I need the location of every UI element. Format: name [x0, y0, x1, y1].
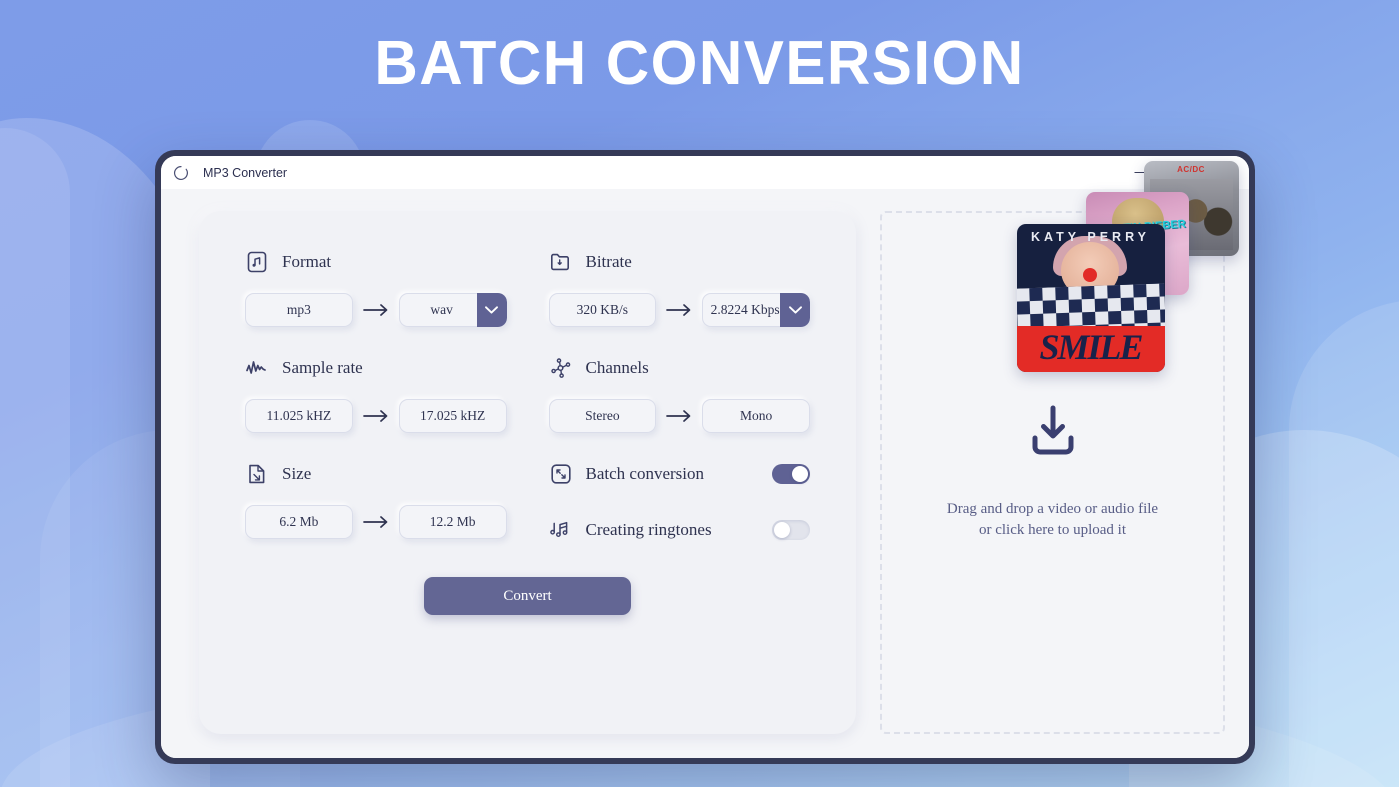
format-header: Format: [245, 247, 507, 277]
file-resize-icon: [245, 462, 269, 486]
size-to-field[interactable]: 12.2 Mb: [399, 505, 507, 539]
size-header: Size: [245, 459, 507, 489]
channels-node-icon: [549, 356, 573, 380]
music-notes-icon: [549, 518, 573, 542]
bitrate-to-select[interactable]: 2.8224 Kbps: [702, 293, 810, 327]
sample-rate-from-field[interactable]: 11.025 kHZ: [245, 399, 353, 433]
creating-ringtones-row: Creating ringtones: [549, 515, 811, 545]
batch-conversion-toggle[interactable]: [772, 464, 810, 484]
kp-cover-banner: [1017, 326, 1165, 372]
jb-cover-art: [1112, 198, 1164, 238]
toggles-column: Batch conversion: [549, 459, 811, 571]
app-title: MP3 Converter: [203, 166, 287, 180]
channels-to-field[interactable]: Mono: [702, 399, 810, 433]
kp-cover-artist: KATY PERRY: [1017, 230, 1165, 244]
kp-cover-nose: [1083, 268, 1097, 282]
maximize-icon: [1178, 167, 1189, 178]
kp-cover-checks: [1017, 283, 1165, 334]
arrow-right-icon: [362, 303, 390, 317]
page-headline: BATCH CONVERSION: [21, 28, 1378, 99]
size-row: 6.2 Mb 12.2 Mb: [245, 505, 507, 539]
close-icon: [1222, 167, 1233, 178]
dropzone-text: Drag and drop a video or audio file or c…: [945, 499, 1160, 540]
channels-label: Channels: [586, 358, 649, 378]
loading-spinner-icon: [173, 165, 189, 181]
creating-ringtones-toggle[interactable]: [772, 520, 810, 540]
channels-header: Channels: [549, 353, 811, 383]
music-note-square-icon: [245, 250, 269, 274]
maximize-button[interactable]: [1161, 156, 1205, 189]
arrow-right-icon: [665, 303, 693, 317]
batch-conversion-label: Batch conversion: [586, 464, 705, 484]
folder-download-icon: [549, 250, 573, 274]
justin-bieber-album-cover: JUSTIN BIEBER: [1086, 192, 1189, 295]
expand-square-icon: [549, 462, 573, 486]
minimize-icon: [1134, 167, 1145, 178]
app-window-inner: MP3 Converter: [161, 156, 1249, 758]
bitrate-to-value: 2.8224 Kbps: [702, 302, 780, 318]
file-dropzone[interactable]: AC/DC JUSTIN BIEBER KATY PERRY SMILE: [880, 211, 1225, 734]
kp-cover-face: [1061, 242, 1119, 296]
batch-conversion-row: Batch conversion: [549, 459, 811, 489]
background-blob-left-2: [0, 128, 70, 787]
format-dropdown-button[interactable]: [477, 293, 507, 327]
size-from-field[interactable]: 6.2 Mb: [245, 505, 353, 539]
app-window: MP3 Converter: [155, 150, 1255, 764]
format-label: Format: [282, 252, 331, 272]
bitrate-option: Bitrate 320 KB/s 2.8224 Kbps: [549, 247, 811, 327]
toggle-knob: [774, 522, 790, 538]
bitrate-from-field[interactable]: 320 KB/s: [549, 293, 657, 327]
waveform-icon: [245, 356, 269, 380]
album-covers-stack: AC/DC JUSTIN BIEBER KATY PERRY SMILE: [1017, 161, 1250, 381]
arrow-right-icon: [362, 409, 390, 423]
arrow-right-icon: [362, 515, 390, 529]
format-from-field[interactable]: mp3: [245, 293, 353, 327]
chevron-down-icon: [789, 306, 802, 314]
download-tray-icon: [1024, 405, 1082, 457]
bitrate-header: Bitrate: [549, 247, 811, 277]
app-body: Format mp3 wav: [161, 189, 1249, 758]
bitrate-row: 320 KB/s 2.8224 Kbps: [549, 293, 811, 327]
format-to-select[interactable]: wav: [399, 293, 507, 327]
minimize-button[interactable]: [1117, 156, 1161, 189]
acdc-cover-art: [1150, 179, 1233, 250]
channels-row: Stereo Mono: [549, 399, 811, 433]
format-row: mp3 wav: [245, 293, 507, 327]
channels-from-field[interactable]: Stereo: [549, 399, 657, 433]
chevron-down-icon: [485, 306, 498, 314]
convert-button[interactable]: Convert: [424, 577, 631, 615]
bitrate-label: Bitrate: [586, 252, 632, 272]
format-to-value: wav: [399, 302, 477, 318]
sample-rate-header: Sample rate: [245, 353, 507, 383]
katy-perry-album-cover: KATY PERRY SMILE: [1017, 224, 1165, 372]
window-controls: [1117, 156, 1249, 189]
sample-rate-to-field[interactable]: 17.025 kHZ: [399, 399, 507, 433]
sample-rate-row: 11.025 kHZ 17.025 kHZ: [245, 399, 507, 433]
format-option: Format mp3 wav: [245, 247, 507, 327]
title-bar: MP3 Converter: [161, 156, 1249, 189]
settings-card: Format mp3 wav: [199, 211, 856, 734]
sample-rate-option: Sample rate 11.025 kHZ 17.025 kHZ: [245, 353, 507, 433]
size-option: Size 6.2 Mb 12.2 Mb: [245, 459, 507, 545]
kp-cover-title: SMILE: [1017, 326, 1165, 370]
toggle-knob: [792, 466, 808, 482]
size-label: Size: [282, 464, 311, 484]
channels-option: Channels Stereo Mono: [549, 353, 811, 433]
background-blob-right-2: [1289, 300, 1399, 787]
bitrate-dropdown-button[interactable]: [780, 293, 810, 327]
arrow-right-icon: [665, 409, 693, 423]
sample-rate-label: Sample rate: [282, 358, 363, 378]
close-button[interactable]: [1205, 156, 1249, 189]
settings-grid: Format mp3 wav: [245, 247, 810, 571]
creating-ringtones-label: Creating ringtones: [586, 520, 712, 540]
kp-cover-hair: [1053, 236, 1127, 276]
jb-cover-title: JUSTIN BIEBER: [1101, 219, 1185, 236]
